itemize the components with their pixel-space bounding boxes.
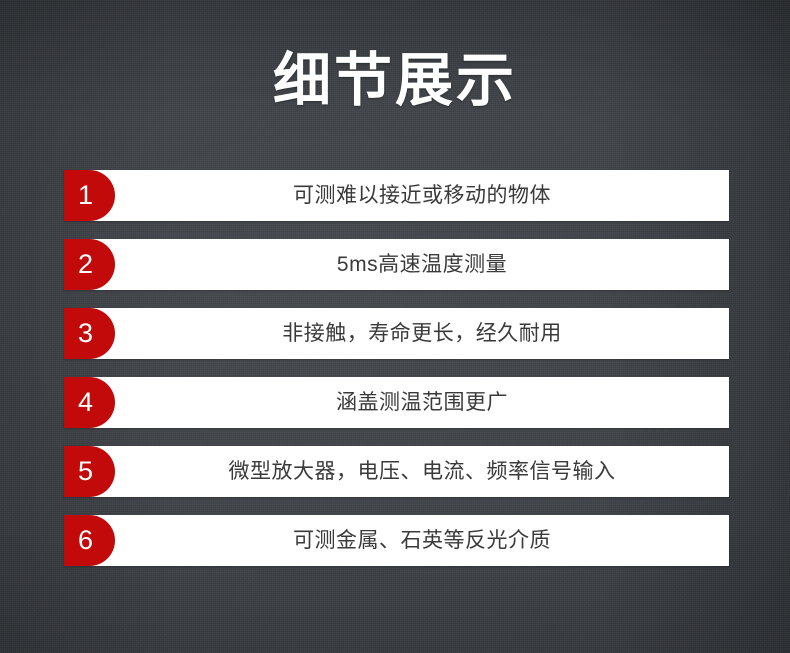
feature-number-badge: 3 [64,308,115,359]
feature-label: 可测难以接近或移动的物体 [115,170,729,221]
feature-label: 非接触，寿命更长，经久耐用 [115,308,729,359]
list-item: 可测金属、石英等反光介质 6 [0,515,790,566]
list-item: 5ms高速温度测量 2 [0,239,790,290]
list-item: 微型放大器，电压、电流、频率信号输入 5 [0,446,790,497]
feature-label: 微型放大器，电压、电流、频率信号输入 [115,446,729,497]
list-item: 涵盖测温范围更广 4 [0,377,790,428]
feature-label: 可测金属、石英等反光介质 [115,515,729,566]
feature-number-badge: 5 [64,446,115,497]
list-item: 可测难以接近或移动的物体 1 [0,170,790,221]
feature-list: 可测难以接近或移动的物体 1 5ms高速温度测量 2 非接触，寿命更长，经久耐用… [0,170,790,584]
detail-showcase-page: 细节展示 可测难以接近或移动的物体 1 5ms高速温度测量 2 非接触，寿命更长… [0,0,790,653]
feature-label: 5ms高速温度测量 [115,239,729,290]
feature-label: 涵盖测温范围更广 [115,377,729,428]
feature-number-badge: 1 [64,170,115,221]
feature-number-badge: 6 [64,515,115,566]
feature-number-badge: 2 [64,239,115,290]
feature-number-badge: 4 [64,377,115,428]
page-title: 细节展示 [0,47,790,115]
list-item: 非接触，寿命更长，经久耐用 3 [0,308,790,359]
